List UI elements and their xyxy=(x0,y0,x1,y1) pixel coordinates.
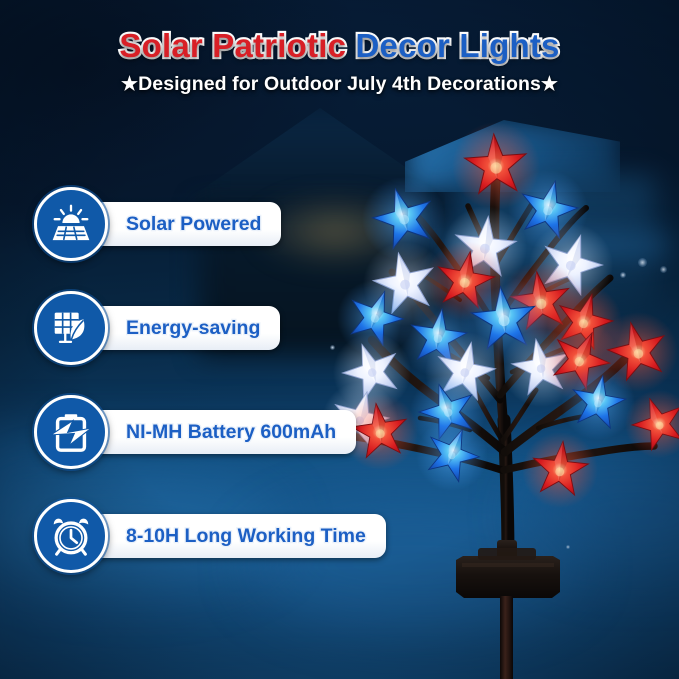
alarm-clock-icon xyxy=(34,499,108,573)
header-block: Solar Patriotic Decor Lights ★Designed f… xyxy=(0,0,679,96)
star-glyph-right: ★ xyxy=(541,74,558,95)
feature-item-solar-powered[interactable]: Solar Powered xyxy=(34,185,386,263)
feature-pill-battery: NI-MH Battery 600mAh xyxy=(92,410,356,454)
bokeh-light xyxy=(620,272,626,278)
page-title: Solar Patriotic Decor Lights xyxy=(0,28,679,65)
background-eave xyxy=(430,232,670,258)
bokeh-light xyxy=(660,266,667,273)
feature-item-energy-saving[interactable]: Energy-saving xyxy=(34,289,386,367)
page-subtitle: ★Designed for Outdoor July 4th Decoratio… xyxy=(0,73,679,96)
battery-bolt-icon xyxy=(34,395,108,469)
subtitle-text: Designed for Outdoor July 4th Decoration… xyxy=(138,73,541,95)
bokeh-light xyxy=(566,545,570,549)
bokeh-light xyxy=(540,588,545,593)
bokeh-light xyxy=(638,258,647,267)
solar-panel-sun-icon xyxy=(34,187,108,261)
feature-item-working-time[interactable]: 8-10H Long Working Time xyxy=(34,497,386,575)
feature-label: NI-MH Battery 600mAh xyxy=(126,421,336,444)
feature-label: Solar Powered xyxy=(126,213,261,236)
feature-label: 8-10H Long Working Time xyxy=(126,525,366,548)
feature-pill-solar-powered: Solar Powered xyxy=(92,202,281,246)
title-red-part: Solar Patriotic xyxy=(119,27,346,64)
feature-label: Energy-saving xyxy=(126,317,260,340)
feature-pill-energy-saving: Energy-saving xyxy=(92,306,280,350)
solar-panel-leaf-icon xyxy=(34,291,108,365)
feature-pill-working-time: 8-10H Long Working Time xyxy=(92,514,386,558)
feature-item-battery[interactable]: NI-MH Battery 600mAh xyxy=(34,393,386,471)
title-blue-part: Decor Lights xyxy=(356,27,560,64)
feature-list: Solar Powered Energy-saving xyxy=(34,185,386,601)
star-glyph-left: ★ xyxy=(121,74,138,95)
bokeh-light xyxy=(487,585,491,589)
